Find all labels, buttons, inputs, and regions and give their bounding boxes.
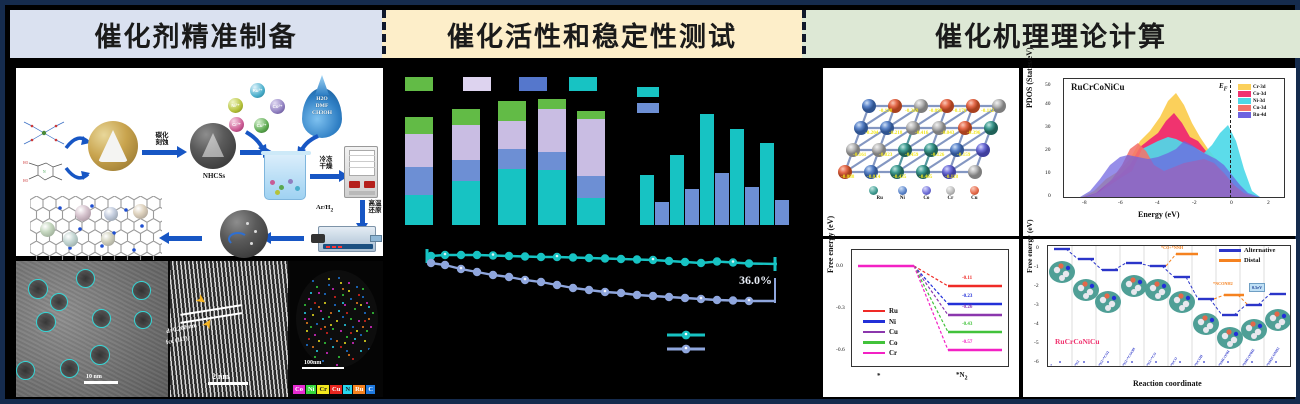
stacked-bar — [452, 109, 480, 225]
nanoparticle-marker — [60, 359, 79, 378]
reaction-coordinate-chart: Free energy (eV) 0 -1 -2 -3 -4 -5 -6 — [1023, 239, 1296, 397]
bar-yield — [730, 129, 744, 225]
reaction-beaker — [264, 154, 306, 200]
pdos-legend-ni[interactable]: Ni-3d — [1238, 98, 1266, 104]
eds-mapping-image: 100nm Co Ni Cr Cu N Ru C — [290, 261, 383, 397]
nanoparticle-marker — [132, 281, 151, 300]
sphere-core-triangle — [98, 130, 128, 162]
fe-value-co: -0.43 — [962, 322, 972, 327]
svg-text:-0.369: -0.369 — [905, 108, 919, 114]
pdos-legend: Cr-3d Co-3d Ni-3d Cu-3d Ru-4d — [1238, 84, 1266, 118]
bar-fe — [775, 200, 789, 225]
legend-swatch-2[interactable] — [463, 77, 491, 91]
svg-text:-0.435: -0.435 — [893, 174, 907, 180]
scale-bar-label: 10 nm — [86, 374, 102, 380]
legend-atom-ru: Ru-4dRu — [863, 186, 883, 201]
fe-legend-co[interactable]: Co — [863, 339, 898, 347]
nanoparticle-marker — [134, 311, 152, 329]
tem-image: 10 nm — [16, 261, 168, 397]
pdos-ytick: 0 — [1048, 193, 1051, 199]
bar-segment — [538, 109, 566, 152]
header-activity-stability-test: 催化活性和稳定性测试 — [382, 10, 802, 58]
svg-text:-0.014: -0.014 — [867, 174, 881, 180]
nanoparticle-marker — [36, 312, 56, 332]
precursor-molecule-1 — [20, 116, 68, 151]
pdos-ytick: 50 — [1045, 82, 1051, 88]
pdos-chart: PDOS (States/eV) RuCrCoNiCu 0 10 20 30 4… — [1023, 68, 1296, 236]
lattice-arrow-1: ➤ — [193, 291, 209, 308]
fe-legend: Ru Ni Cu Co Cr — [863, 307, 898, 357]
bar-segment — [452, 160, 480, 181]
pdos-ytick: 30 — [1045, 124, 1051, 130]
pdos-legend-cu[interactable]: Cu-3d — [1238, 105, 1266, 111]
svg-text:-0.043: -0.043 — [941, 130, 955, 136]
arrow-carbonization — [142, 150, 178, 155]
solvent-line-3: CH3OH — [312, 110, 332, 116]
legend-swatch-3[interactable] — [519, 77, 547, 91]
solvent-line-1: H2O — [316, 96, 328, 102]
svg-text:-0.218: -0.218 — [889, 130, 903, 136]
arrow-freeze-dry — [310, 174, 340, 179]
hrtem-image: ➤ ➤ d=0.200 nm fcc (111) 2 nm — [170, 261, 288, 397]
pdos-ytick: 20 — [1045, 147, 1051, 153]
svg-text:-0.396: -0.396 — [967, 130, 981, 136]
legend-swatch-4[interactable] — [569, 77, 597, 91]
label-high-temp-reduction: 高温还原 — [365, 200, 385, 215]
stacked-bar — [498, 101, 526, 225]
rc-annotation-nconh2: *NCONH2 — [1213, 281, 1233, 286]
ion-ru: Ru³⁺ — [250, 83, 265, 98]
curved-arrow-2 — [64, 164, 90, 191]
nanoparticle-marker — [92, 309, 111, 328]
bar-segment — [452, 109, 480, 125]
bar-fe — [655, 202, 669, 225]
rc-legend-alternative[interactable]: Alternative — [1219, 247, 1275, 254]
scale-bar — [84, 381, 118, 384]
bar-segment — [498, 169, 526, 225]
header-label: 催化剂精准制备 — [95, 15, 298, 54]
legend-atom-ni: Ni — [898, 186, 907, 201]
characterization-images: 10 nm ➤ ➤ d=0.200 nm fcc (111) 2 nm — [16, 261, 383, 397]
pdos-xtick: -4 — [1155, 200, 1160, 206]
svg-text:-0.204: -0.204 — [865, 130, 879, 136]
bar-segment — [538, 152, 566, 170]
eds-legend-cr: Cr — [317, 385, 329, 394]
retention-annotation: 36.0% — [739, 273, 772, 288]
rc-ylabel: Free energy (eV) — [1025, 219, 1034, 273]
fe-xtick-n2: *N2 — [956, 371, 967, 381]
pdos-legend-ru[interactable]: Ru-4d — [1238, 112, 1266, 118]
bar-segment — [498, 121, 526, 150]
bar-fe — [745, 187, 759, 225]
label-nhcss: NHCSs — [194, 172, 234, 180]
scale-bar — [208, 382, 248, 385]
rc-ytick: -5 — [1034, 340, 1039, 346]
label-carbonization: 碳化刻蚀 — [142, 132, 182, 147]
eds-particle — [295, 269, 379, 369]
header-divider-2 — [802, 10, 806, 54]
header-mechanism-calculation: 催化机理理论计算 — [802, 10, 1300, 58]
poster-frame: 催化剂精准制备 催化活性和稳定性测试 催化机理理论计算 — [0, 0, 1300, 404]
bar-segment — [405, 195, 433, 225]
svg-text:N: N — [43, 170, 46, 174]
svg-text:-0.161: -0.161 — [853, 152, 867, 158]
label-gas: Ar/H2 — [316, 204, 333, 213]
lattice-spacing-label: d=0.200 nm — [166, 322, 198, 335]
fe-legend-cr[interactable]: Cr — [863, 349, 898, 357]
tube-furnace — [318, 226, 376, 252]
free-energy-diagram: Free energy (eV) 0.0 -0.3 -0.6 * *N2 -0.… — [823, 239, 1019, 397]
rc-ytick: -1 — [1034, 264, 1039, 270]
hddm-nhcs-sphere — [220, 210, 268, 258]
fe-ytick: 0.0 — [836, 263, 843, 269]
pdos-ytick: 10 — [1045, 170, 1051, 176]
fermi-level-line — [1230, 80, 1231, 198]
eds-legend-co: Co — [293, 385, 305, 394]
solvent-droplet: H2O DMF CH3OH — [302, 88, 342, 138]
pdos-xtick: -8 — [1082, 200, 1087, 206]
pdos-xtick: -6 — [1118, 200, 1123, 206]
bar-segment — [498, 149, 526, 169]
svg-text:-0.459: -0.459 — [905, 152, 919, 158]
svg-text:-0.090: -0.090 — [929, 108, 943, 114]
bar-fe — [715, 173, 729, 225]
atom-type-legend: Ru-4dRu Ni Co Cr Cu — [823, 186, 1019, 201]
svg-text:-0.465: -0.465 — [919, 174, 933, 180]
legend-swatch-yield[interactable] — [637, 87, 659, 97]
solvent-line-2: DMF — [316, 103, 329, 109]
rc-annotation-conn: *CO+*NNH — [1161, 245, 1183, 250]
curved-arrow-1 — [64, 130, 90, 157]
svg-text:-0.088: -0.088 — [841, 174, 855, 180]
bar-yield — [760, 143, 774, 225]
header-band: 催化剂精准制备 催化活性和稳定性测试 催化机理理论计算 — [10, 10, 1300, 58]
svg-text:-0.118: -0.118 — [945, 174, 959, 180]
nhcs-sphere — [190, 123, 236, 169]
svg-text:-0.159: -0.159 — [957, 152, 971, 158]
pdos-xtick: -2 — [1192, 200, 1197, 206]
stacked-bar — [538, 99, 566, 225]
stacked-bar-chart — [405, 77, 590, 225]
scale-bar-label: 2 nm — [212, 372, 229, 381]
fe-value-ni: -0.23 — [962, 294, 972, 299]
rc-ytick: -2 — [1034, 283, 1039, 289]
legend-swatch-1[interactable] — [405, 77, 433, 91]
svg-text:-0.023: -0.023 — [879, 152, 893, 158]
svg-text:-0.198: -0.198 — [879, 108, 893, 114]
bar-segment — [538, 170, 566, 225]
nanoparticle-marker — [76, 269, 95, 288]
label-freeze-dry: 冷冻干燥 — [309, 156, 343, 171]
stacked-bar — [405, 117, 433, 225]
fe-legend-ru[interactable]: Ru — [863, 307, 898, 315]
rc-annotation-barrier: 0.5eV — [1249, 283, 1265, 292]
atomic-structure-model: -0.198-0.369-0.090 -0.178-0.112 -0.204-0… — [823, 68, 1019, 236]
eds-legend-ni: Ni — [306, 385, 317, 394]
eds-legend-c: C — [366, 385, 375, 394]
ion-co: Co²⁺ — [270, 99, 285, 114]
rc-ytick: -3 — [1034, 302, 1039, 308]
eds-legend-n: N — [343, 385, 352, 394]
precursor-molecule-2: N HOHO — [22, 160, 68, 189]
fe-ytick: -0.3 — [836, 305, 845, 311]
durability-legend — [667, 329, 707, 360]
ion-ni: Ni²⁺ — [228, 98, 243, 113]
bar-yield — [640, 175, 654, 225]
nanoparticle-marker — [16, 361, 35, 380]
arrow-to-hddm — [270, 236, 304, 241]
bar-segment — [405, 167, 433, 195]
fe-legend-cu[interactable]: Cu — [863, 328, 898, 336]
lyophilizer — [344, 146, 378, 198]
header-label: 催化机理理论计算 — [935, 15, 1167, 54]
header-catalyst-preparation: 催化剂精准制备 — [10, 10, 382, 58]
graphene-support — [30, 196, 162, 260]
fe-value-cr: -0.57 — [962, 340, 972, 345]
pdos-xlabel: Energy (eV) — [1138, 210, 1180, 219]
legend-atom-co: Co — [922, 186, 931, 201]
eds-legend-ru: Ru — [353, 385, 365, 394]
bar-segment — [452, 125, 480, 160]
pdos-ytick: 40 — [1045, 101, 1051, 107]
bar-segment — [498, 101, 526, 121]
header-divider-1 — [382, 10, 386, 54]
fe-value-ru: -0.11 — [962, 276, 972, 281]
rc-legend-distal[interactable]: Distal — [1219, 257, 1275, 264]
synthesis-scheme: N HOHO 碳化刻蚀 NHCSs Ru³⁺ Ni²⁺ Co²⁺ — [16, 68, 383, 256]
durability-chart: 36.0% — [405, 233, 795, 363]
fe-ytick: -0.6 — [836, 347, 845, 353]
pdos-ylabel: PDOS (States/eV) — [1025, 47, 1034, 108]
bar-segment — [452, 181, 480, 225]
grouped-bar-chart — [600, 77, 795, 225]
legend-atom-cu: Cu — [970, 186, 979, 201]
rc-catalyst-label: RuCrCoNiCu — [1055, 337, 1100, 346]
rc-xlabel: Reaction coordinate — [1133, 379, 1202, 388]
legend-atom-cr: Cr — [946, 186, 955, 201]
legend-swatch-fe[interactable] — [637, 103, 659, 113]
nanoparticle-marker — [50, 293, 68, 311]
fe-xtick-bare: * — [877, 372, 881, 380]
svg-text:HO: HO — [23, 161, 29, 165]
rc-ytick: -6 — [1034, 359, 1039, 365]
scale-bar-label: 100nm — [304, 360, 321, 366]
lattice-plane-label: fcc (111) — [166, 335, 189, 346]
rc-ytick: 0 — [1036, 245, 1039, 251]
bar-segment — [405, 117, 433, 134]
arrow-to-graphene — [168, 236, 202, 241]
pdos-legend-co[interactable]: Co-3d — [1238, 91, 1266, 97]
scale-bar — [302, 367, 344, 370]
svg-text:-0.112: -0.112 — [981, 108, 995, 114]
bar-yield — [670, 155, 684, 225]
fermi-level-label: EF — [1219, 82, 1228, 92]
bar-fe — [685, 189, 699, 225]
bar-segment — [405, 134, 433, 166]
pdos-xtick: 2 — [1267, 200, 1270, 206]
eds-legend-cu: Cu — [330, 385, 342, 394]
eds-element-legend: Co Ni Cr Cu N Ru C — [293, 385, 375, 394]
durability-curves — [405, 233, 795, 323]
fe-ylabel: Free energy (eV) — [826, 216, 835, 273]
svg-text:HO: HO — [23, 179, 29, 183]
pdos-xtick: 0 — [1230, 200, 1233, 206]
fe-legend-ni[interactable]: Ni — [863, 318, 898, 326]
header-label: 催化活性和稳定性测试 — [447, 15, 737, 54]
rc-legend: Alternative Distal — [1219, 247, 1275, 264]
bar-yield — [700, 114, 714, 225]
nanoparticle-marker — [28, 279, 48, 299]
fe-value-cu: -0.26 — [962, 305, 972, 310]
svg-text:-0.178: -0.178 — [953, 108, 967, 114]
svg-text:-0.126: -0.126 — [931, 152, 945, 158]
nanoparticle-marker — [90, 345, 110, 365]
svg-text:-0.416: -0.416 — [915, 130, 929, 136]
rc-ytick: -4 — [1034, 321, 1039, 327]
bar-segment — [538, 99, 566, 109]
pdos-legend-cr[interactable]: Cr-3d — [1238, 84, 1266, 90]
